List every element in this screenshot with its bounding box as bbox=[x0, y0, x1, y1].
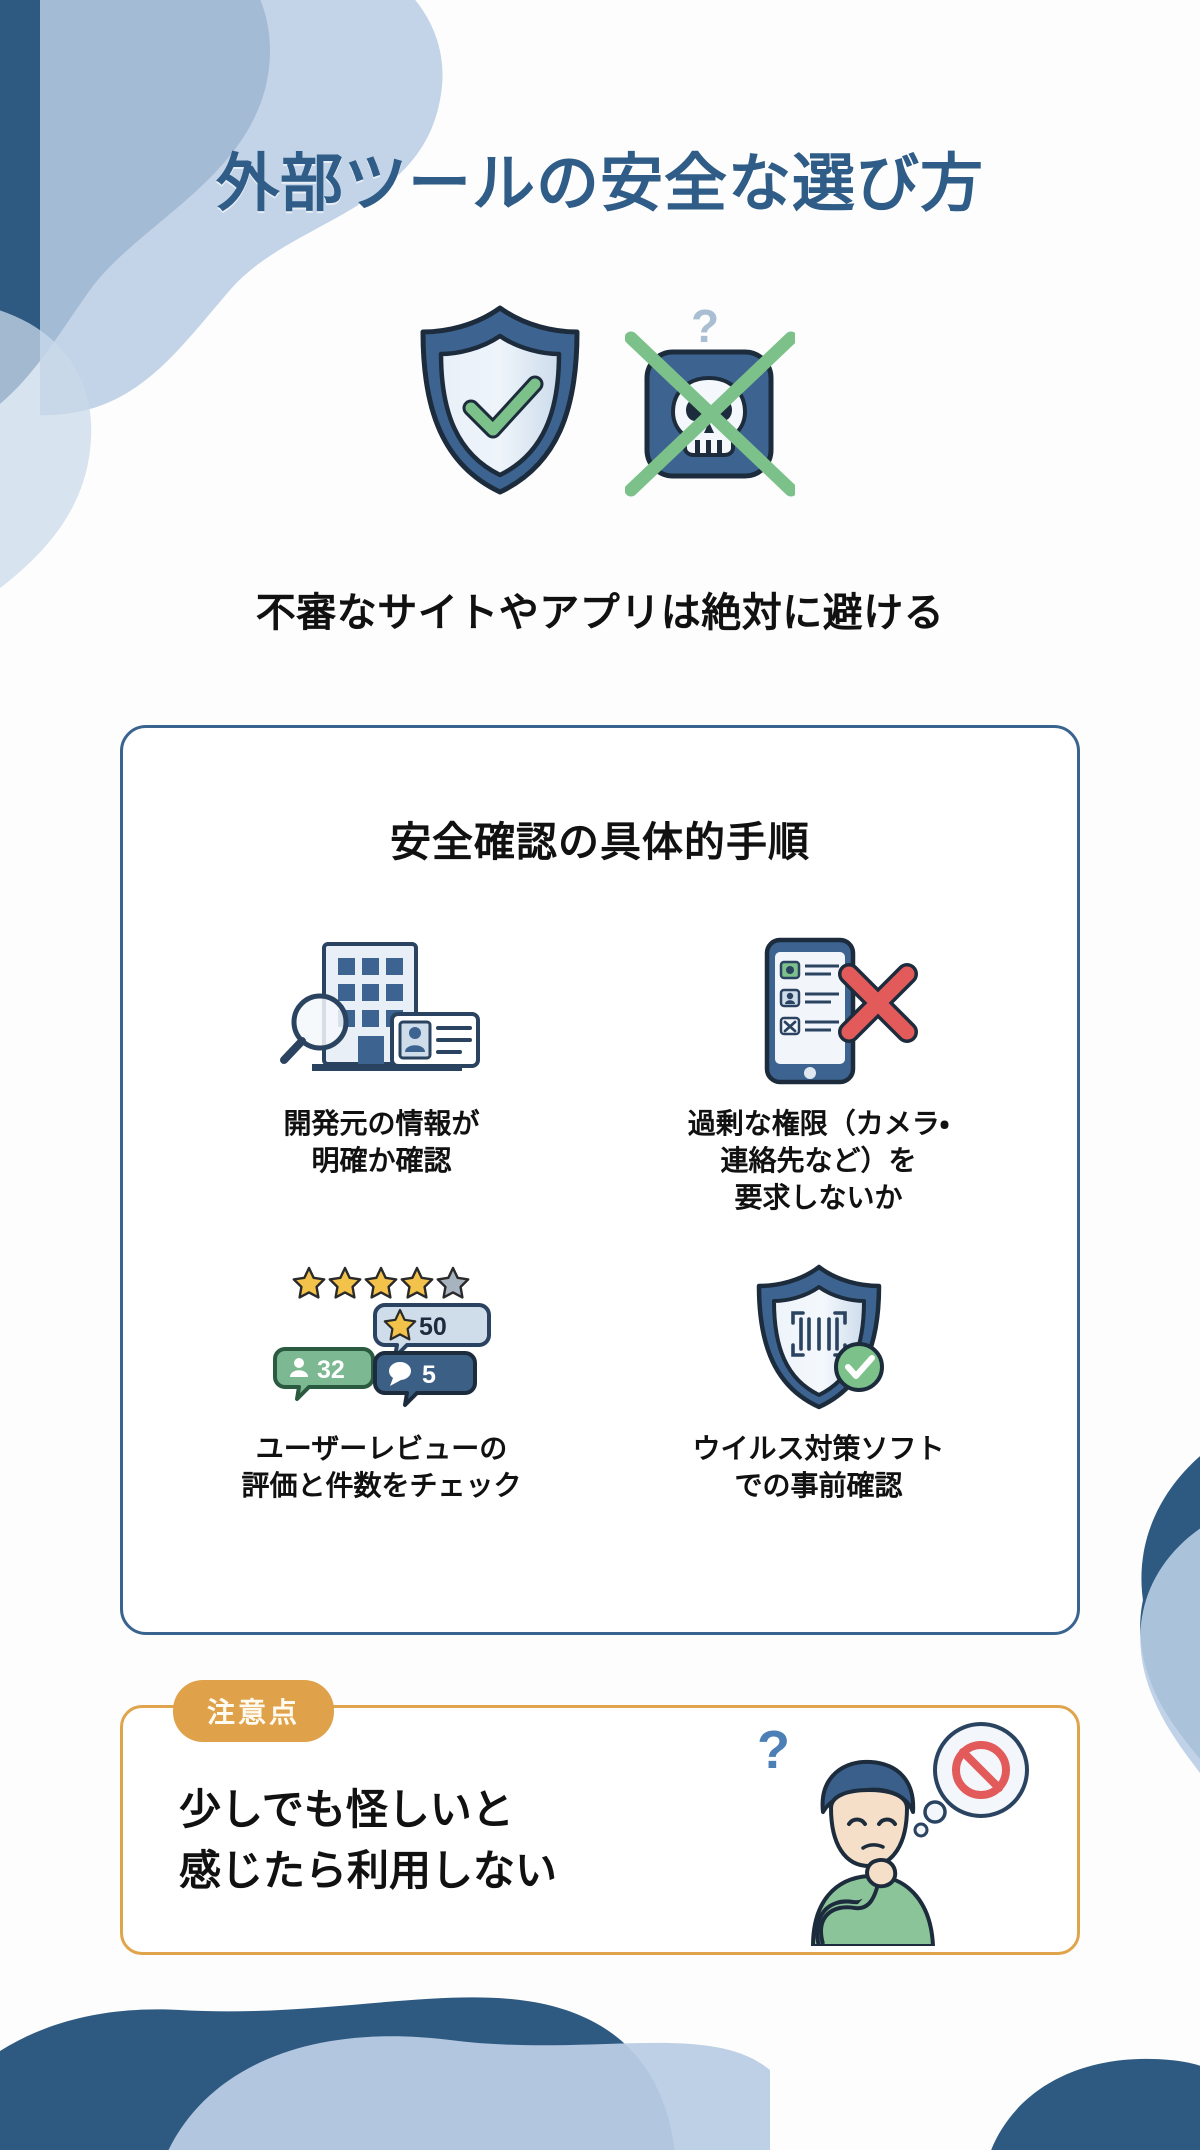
procedure-item-label: 過剰な権限（カメラ・ 連絡先など）を 要求しないか bbox=[688, 1106, 950, 1217]
hero-caption: 不審なサイトやアプリは絶対に避ける bbox=[0, 580, 1200, 638]
procedure-item-antivirus-scan: ウイルス対策ソフト での事前確認 bbox=[600, 1251, 1037, 1505]
caution-text: 少しでも怪しいと 感じたら利用しない bbox=[179, 1780, 557, 1902]
procedure-item-user-reviews: 50 32 bbox=[163, 1251, 600, 1505]
svg-text:5: 5 bbox=[422, 1361, 436, 1389]
procedure-item-excessive-permissions: 過剰な権限（カメラ・ 連絡先など）を 要求しないか bbox=[600, 926, 1037, 1217]
hero-icon-row: ? bbox=[0, 300, 1200, 500]
smartphone-permissions-x-icon bbox=[709, 926, 929, 1086]
building-magnifier-id-card-icon bbox=[272, 926, 492, 1086]
svg-text:?: ? bbox=[757, 1720, 790, 1780]
comment-badge: 5 bbox=[375, 1353, 475, 1405]
malware-skull-crossed-icon: ? bbox=[625, 300, 795, 500]
svg-text:32: 32 bbox=[317, 1356, 345, 1384]
shield-scan-check-icon bbox=[729, 1251, 909, 1411]
decorative-blob-bottom-right bbox=[940, 1990, 1200, 2150]
card-title: 安全確認の具体的手順 bbox=[123, 808, 1077, 868]
procedure-grid: 開発元の情報が 明確か確認 bbox=[163, 926, 1037, 1505]
svg-text:50: 50 bbox=[419, 1313, 447, 1341]
procedure-item-label: ウイルス対策ソフト での事前確認 bbox=[692, 1431, 944, 1505]
star-badge: 50 bbox=[375, 1305, 489, 1357]
star-rating-badges-icon: 50 32 bbox=[267, 1251, 497, 1411]
procedure-item-label: 開発元の情報が 明確か確認 bbox=[283, 1106, 479, 1180]
thinking-person-question-prohibited-icon: ? bbox=[749, 1716, 1049, 1946]
procedure-card: 安全確認の具体的手順 bbox=[120, 725, 1080, 1635]
procedure-item-label: ユーザーレビューの 評価と件数をチェック bbox=[241, 1431, 521, 1505]
shield-check-icon bbox=[405, 300, 595, 500]
caution-chip: 注意点 bbox=[173, 1680, 334, 1742]
people-badge: 32 bbox=[275, 1349, 373, 1399]
infographic-canvas: 外部ツールの安全な選び方 bbox=[0, 0, 1200, 2150]
svg-text:?: ? bbox=[691, 300, 719, 352]
caution-box: 注意点 少しでも怪しいと 感じたら利用しない ? bbox=[120, 1705, 1080, 1955]
procedure-item-developer-info: 開発元の情報が 明確か確認 bbox=[163, 926, 600, 1217]
page-title: 外部ツールの安全な選び方 bbox=[0, 150, 1200, 219]
